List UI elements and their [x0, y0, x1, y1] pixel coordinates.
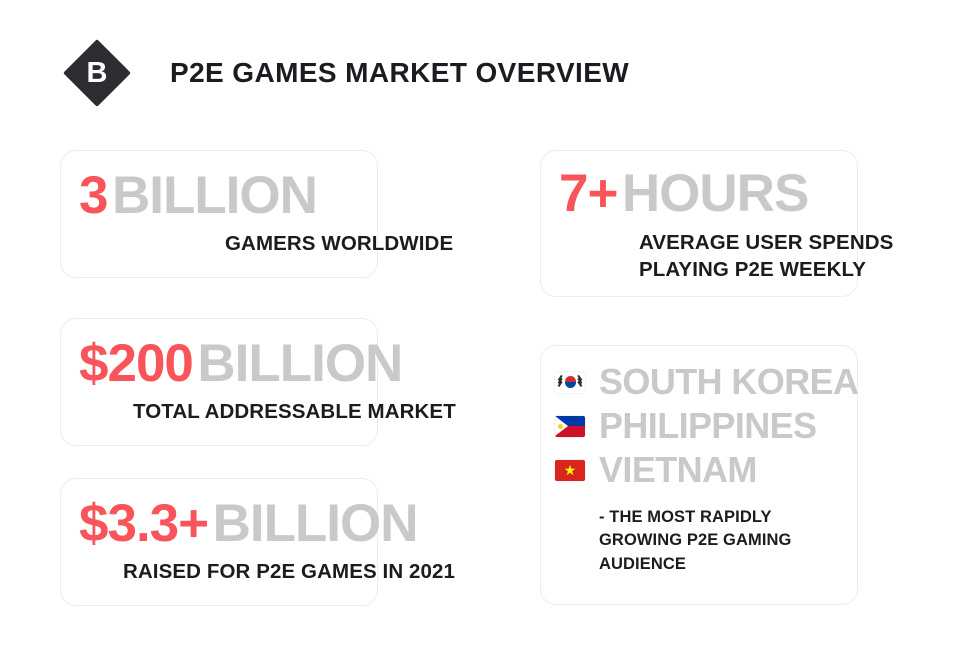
- stat-card-gamers-content: 3 BILLION GAMERS WORLDWIDE: [79, 169, 453, 257]
- stat-card-hours: 7+ HOURS AVERAGE USER SPENDS PLAYING P2E…: [540, 150, 858, 297]
- stat-card-total-addressable-market: $200 BILLION TOTAL ADDRESSABLE MARKET: [60, 318, 378, 446]
- countries-note-line-3: AUDIENCE: [599, 553, 858, 576]
- stat-caption-line-1: AVERAGE USER SPENDS: [639, 229, 893, 256]
- countries-note-line-1: - THE MOST RAPIDLY: [599, 506, 858, 529]
- vietnam-flag-icon: ★: [555, 460, 585, 481]
- philippines-flag-icon: [555, 416, 585, 437]
- stat-card-tam-content: $200 BILLION TOTAL ADDRESSABLE MARKET: [79, 337, 456, 425]
- brand-logo: B: [62, 38, 132, 108]
- stat-accent-value: $200: [79, 334, 193, 393]
- stat-accent-value: 3: [79, 166, 107, 225]
- list-item: PHILIPPINES: [555, 404, 858, 448]
- stat-headline: $3.3+ BILLION: [79, 497, 455, 550]
- stat-caption: TOTAL ADDRESSABLE MARKET: [133, 398, 456, 425]
- stat-headline: 7+ HOURS: [559, 167, 893, 220]
- stat-caption: AVERAGE USER SPENDS PLAYING P2E WEEKLY: [639, 229, 893, 283]
- stat-card-raised-content: $3.3+ BILLION RAISED FOR P2E GAMES IN 20…: [79, 497, 455, 585]
- countries-note-line-2: GROWING P2E GAMING: [599, 529, 858, 552]
- stat-muted-unit: BILLION: [197, 334, 402, 393]
- stat-muted-unit: BILLION: [213, 494, 418, 553]
- country-name: SOUTH KOREA: [599, 364, 858, 400]
- stat-card-gamers: 3 BILLION GAMERS WORLDWIDE: [60, 150, 378, 278]
- countries-note: - THE MOST RAPIDLY GROWING P2E GAMING AU…: [599, 506, 858, 576]
- south-korea-flag-icon: [555, 372, 585, 393]
- stat-caption-line-2: PLAYING P2E WEEKLY: [639, 256, 893, 283]
- stat-card-hours-content: 7+ HOURS AVERAGE USER SPENDS PLAYING P2E…: [559, 167, 893, 283]
- list-item: SOUTH KOREA: [555, 360, 858, 404]
- stat-headline: $200 BILLION: [79, 337, 456, 390]
- list-item: ★ VIETNAM: [555, 448, 858, 492]
- stat-card-raised: $3.3+ BILLION RAISED FOR P2E GAMES IN 20…: [60, 478, 378, 606]
- stat-muted-unit: BILLION: [112, 166, 317, 225]
- stat-card-countries: SOUTH KOREA PHILIPPINES ★ VIETNAM - THE …: [540, 345, 858, 605]
- stat-headline: 3 BILLION: [79, 169, 453, 222]
- page-title: P2E GAMES MARKET OVERVIEW: [170, 57, 629, 89]
- logo-letter: B: [62, 38, 132, 108]
- country-name: VIETNAM: [599, 452, 757, 488]
- stat-card-countries-content: SOUTH KOREA PHILIPPINES ★ VIETNAM - THE …: [555, 360, 858, 576]
- stat-accent-value: $3.3+: [79, 494, 208, 553]
- country-name: PHILIPPINES: [599, 408, 816, 444]
- stat-muted-unit: HOURS: [622, 164, 808, 223]
- stat-caption: RAISED FOR P2E GAMES IN 2021: [123, 558, 455, 585]
- header: B P2E GAMES MARKET OVERVIEW: [62, 38, 629, 108]
- stat-caption: GAMERS WORLDWIDE: [225, 230, 453, 257]
- stat-accent-value: 7+: [559, 164, 617, 223]
